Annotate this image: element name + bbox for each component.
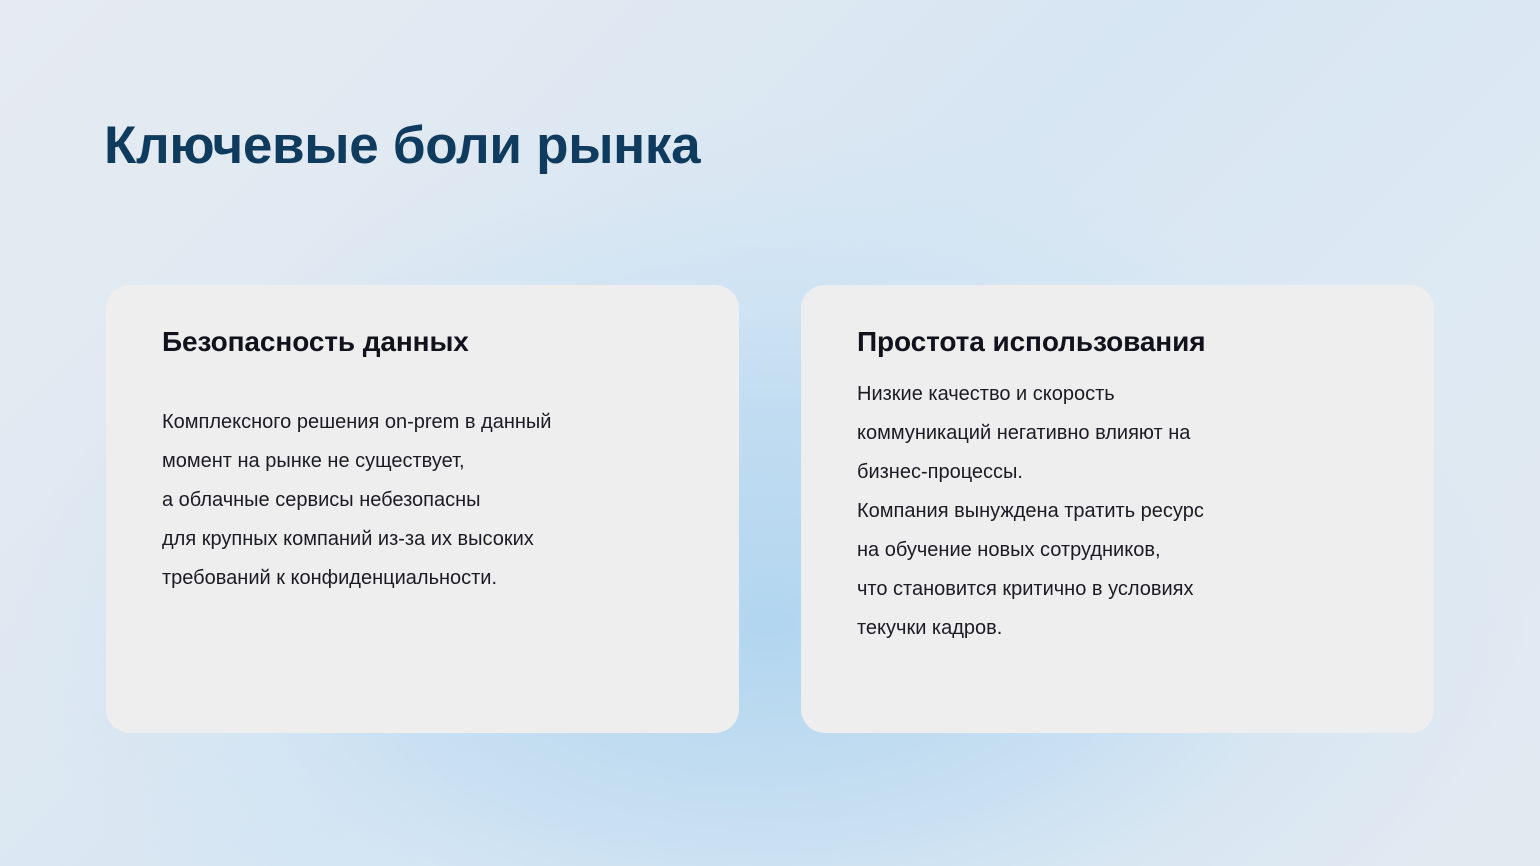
page-title: Ключевые боли рынка <box>104 116 700 175</box>
body-line: бизнес-процессы. <box>857 453 1378 492</box>
pain-point-card-ease-of-use: Простота использования Низкие качество и… <box>801 285 1434 733</box>
body-line: коммуникаций негативно влияют на <box>857 414 1378 453</box>
body-line: текучки кадров. <box>857 609 1378 648</box>
slide-canvas: Ключевые боли рынка Безопасность данных … <box>0 0 1540 866</box>
body-line: Низкие качество и скорость <box>857 375 1378 414</box>
pain-points-card-group: Безопасность данных Комплексного решения… <box>106 285 1434 733</box>
body-line: Компания вынуждена тратить ресурс <box>857 492 1378 531</box>
pain-point-card-data-security: Безопасность данных Комплексного решения… <box>106 285 739 733</box>
card-body-text: Комплексного решения on-prem в данный мо… <box>162 403 683 598</box>
body-line: а облачные сервисы небезопасны <box>162 481 683 520</box>
body-line: момент на рынке не существует, <box>162 442 683 481</box>
body-line: что становится критично в условиях <box>857 570 1378 609</box>
body-line: для крупных компаний из-за их высоких <box>162 520 683 559</box>
body-line: требований к конфиденциальности. <box>162 559 683 598</box>
card-heading: Безопасность данных <box>162 325 683 359</box>
card-body-text: Низкие качество и скорость коммуникаций … <box>857 375 1378 648</box>
card-heading: Простота использования <box>857 325 1378 359</box>
body-line: на обучение новых сотрудников, <box>857 531 1378 570</box>
body-line: Комплексного решения on-prem в данный <box>162 403 683 442</box>
